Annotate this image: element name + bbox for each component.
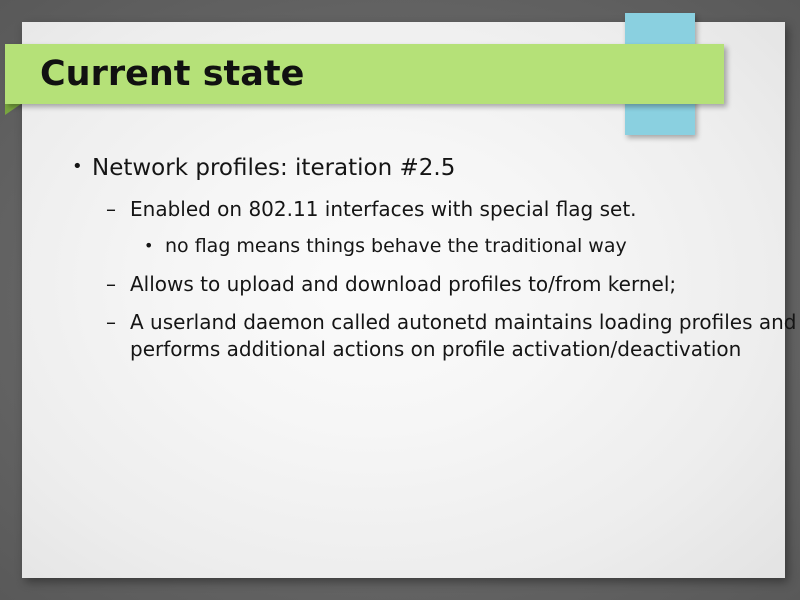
list-item-text: A userland daemon called autonetd mainta… (130, 309, 800, 362)
presentation-backdrop: • Network profiles: iteration #2.5 – Ena… (0, 0, 800, 600)
list-item-text: Enabled on 802.11 interfaces with specia… (130, 196, 800, 222)
slide-body-content: • Network profiles: iteration #2.5 – Ena… (44, 144, 800, 362)
list-item-text: Allows to upload and download profiles t… (130, 271, 800, 297)
list-item: – Allows to upload and download profiles… (106, 271, 800, 297)
page-title: Current state (40, 57, 304, 92)
disc-bullet-icon: • (72, 154, 92, 180)
list-item-text: Network profiles: iteration #2.5 (92, 154, 800, 184)
dash-bullet-icon: – (106, 271, 130, 297)
list-item: – A userland daemon called autonetd main… (106, 309, 800, 362)
dash-bullet-icon: – (106, 196, 130, 222)
list-item: – Enabled on 802.11 interfaces with spec… (106, 196, 800, 222)
title-banner: Current state (5, 44, 724, 104)
list-item-text: no flag means things behave the traditio… (165, 234, 800, 259)
title-banner-fold-decoration (5, 104, 21, 115)
list-item: • no flag means things behave the tradit… (144, 234, 800, 259)
disc-bullet-icon: • (144, 234, 165, 257)
dash-bullet-icon: – (106, 309, 130, 335)
list-item: • Network profiles: iteration #2.5 (72, 154, 800, 184)
